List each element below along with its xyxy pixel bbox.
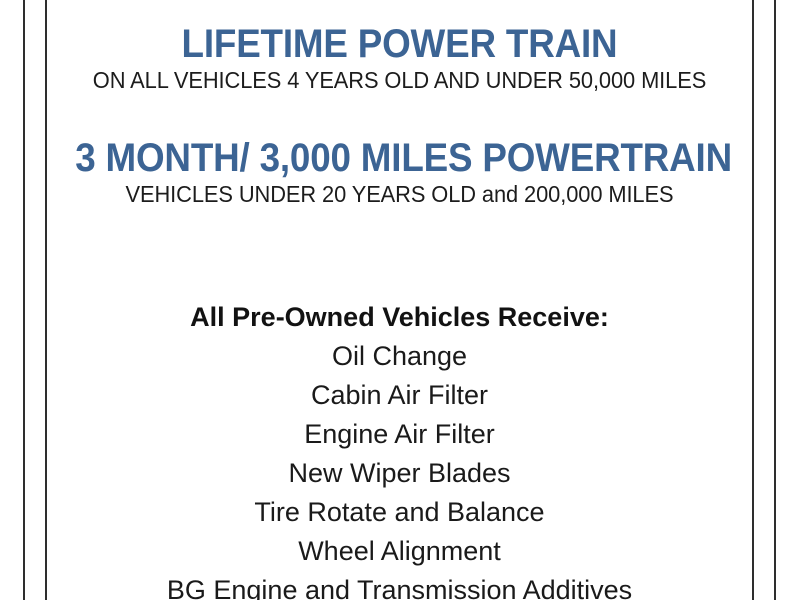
- services-heading: All Pre-Owned Vehicles Receive:: [47, 298, 752, 336]
- service-list-item: Oil Change: [47, 337, 752, 376]
- service-list-item: New Wiper Blades: [47, 454, 752, 493]
- service-list-item: Wheel Alignment: [47, 532, 752, 571]
- warranty-block-three-month: 3 MONTH/ 3,000 MILES POWERTRAIN VEHICLES…: [47, 136, 752, 208]
- warranty-block-lifetime: LIFETIME POWER TRAIN ON ALL VEHICLES 4 Y…: [47, 22, 752, 94]
- warranty-subtitle-lifetime: ON ALL VEHICLES 4 YEARS OLD AND UNDER 50…: [65, 66, 735, 94]
- warranty-title-three-month: 3 MONTH/ 3,000 MILES POWERTRAIN: [75, 136, 724, 180]
- warranty-title-lifetime: LIFETIME POWER TRAIN: [75, 22, 724, 66]
- warranty-subtitle-three-month: VEHICLES UNDER 20 YEARS OLD and 200,000 …: [65, 180, 735, 208]
- services-section: All Pre-Owned Vehicles Receive: Oil Chan…: [47, 298, 752, 600]
- warranty-flyer: LIFETIME POWER TRAIN ON ALL VEHICLES 4 Y…: [0, 0, 800, 600]
- services-list: Oil ChangeCabin Air FilterEngine Air Fil…: [47, 337, 752, 600]
- frame-rule-right-outer: [774, 0, 776, 600]
- service-list-item: Cabin Air Filter: [47, 376, 752, 415]
- service-list-item: Engine Air Filter: [47, 415, 752, 454]
- frame-rule-left-outer: [23, 0, 25, 600]
- frame-rule-right-inner: [752, 0, 754, 600]
- service-list-item: Tire Rotate and Balance: [47, 493, 752, 532]
- service-list-item: BG Engine and Transmission Additives: [47, 571, 752, 600]
- flyer-content: LIFETIME POWER TRAIN ON ALL VEHICLES 4 Y…: [47, 0, 752, 600]
